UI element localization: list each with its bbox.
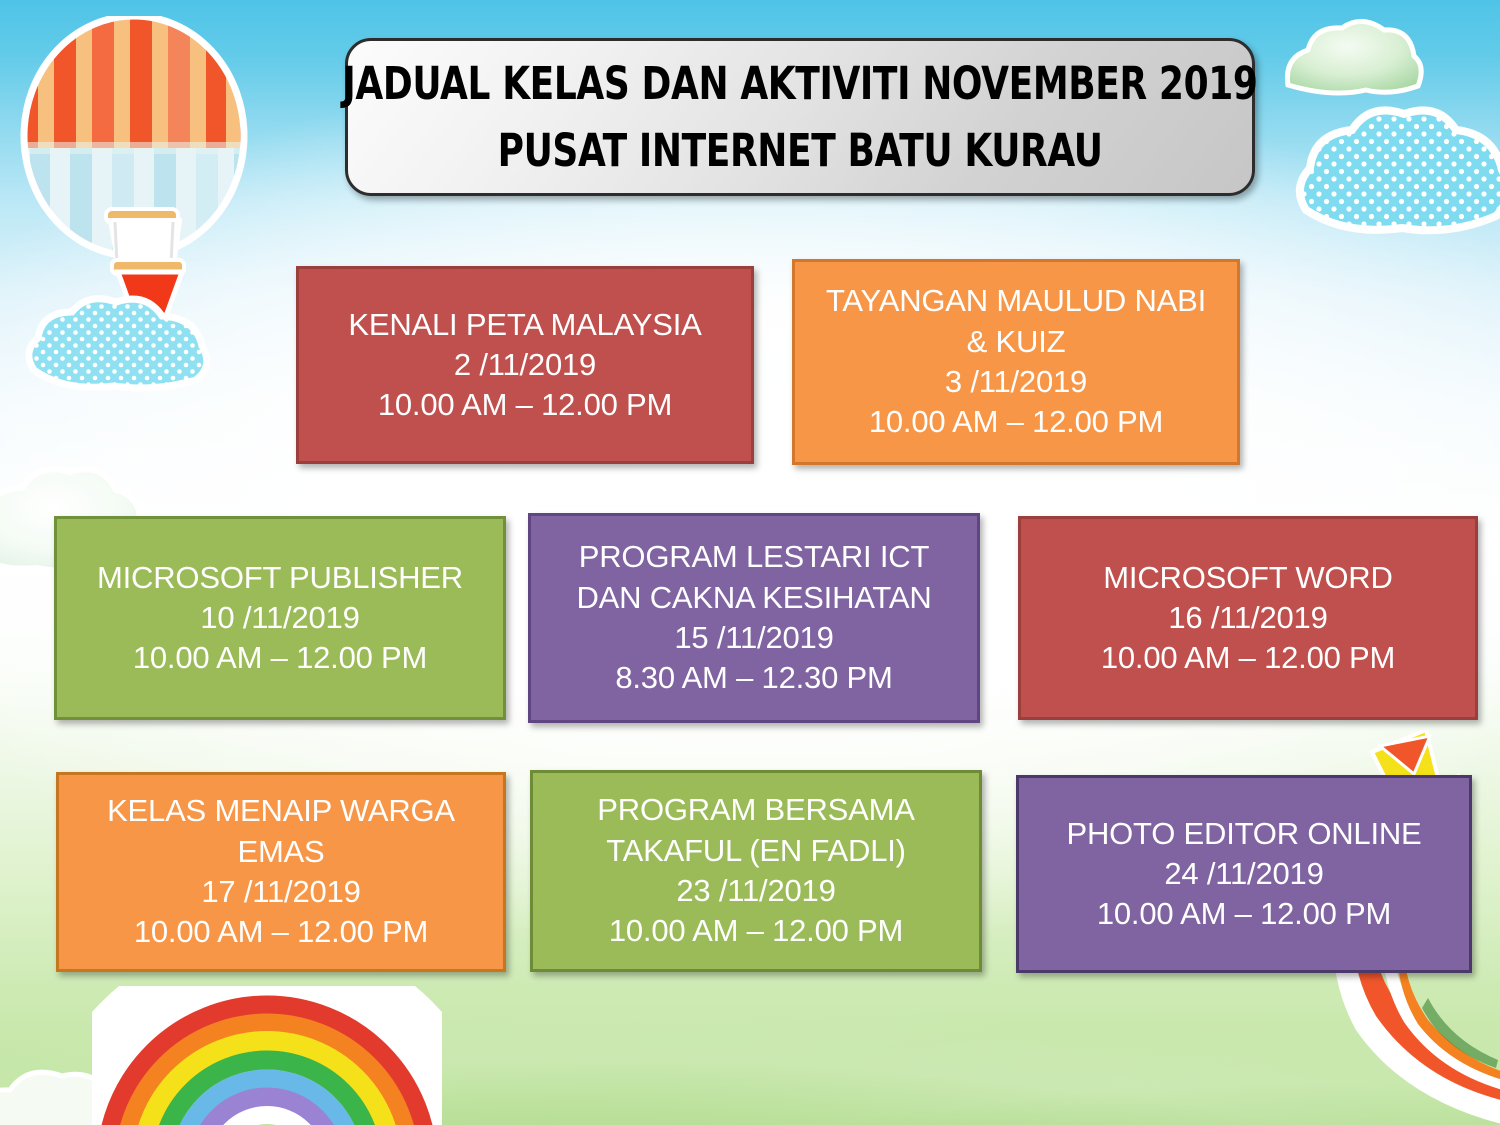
activity-card-line: 23 /11/2019 <box>676 871 835 911</box>
activity-card-line: 16 /11/2019 <box>1168 598 1327 638</box>
activity-card-line: 3 /11/2019 <box>945 362 1087 402</box>
poster-title-plaque: JADUAL KELAS DAN AKTIVITI NOVEMBER 2019 … <box>345 38 1255 196</box>
activity-card-line: 8.30 AM – 12.30 PM <box>615 658 892 698</box>
activity-card-program-bersama-takaful[interactable]: PROGRAM BERSAMATAKAFUL (EN FADLI)23 /11/… <box>530 770 982 972</box>
activity-card-line: KENALI PETA MALAYSIA <box>348 305 701 345</box>
page-title-line-1: JADUAL KELAS DAN AKTIVITI NOVEMBER 2019 <box>342 61 1257 106</box>
activity-card-line: PROGRAM LESTARI ICT <box>579 537 929 577</box>
activity-card-program-lestari-ict[interactable]: PROGRAM LESTARI ICTDAN CAKNA KESIHATAN15… <box>528 513 980 723</box>
activity-card-tayangan-maulud-nabi-kuiz[interactable]: TAYANGAN MAULUD NABI& KUIZ3 /11/201910.0… <box>792 259 1240 465</box>
activity-card-line: 10 /11/2019 <box>200 598 359 638</box>
activity-card-line: 10.00 AM – 12.00 PM <box>1101 638 1395 678</box>
activity-card-line: 10.00 AM – 12.00 PM <box>133 638 427 678</box>
activity-card-kelas-menaip-warga-emas[interactable]: KELAS MENAIP WARGAEMAS17 /11/201910.00 A… <box>56 772 506 972</box>
page-title-line-2: PUSAT INTERNET BATU KURAU <box>498 128 1103 173</box>
activity-card-line: TAKAFUL (EN FADLI) <box>606 831 906 871</box>
activity-card-line: KELAS MENAIP WARGA <box>107 791 455 831</box>
activity-card-line: 17 /11/2019 <box>201 872 360 912</box>
activity-card-line: MICROSOFT PUBLISHER <box>97 558 463 598</box>
activity-card-line: EMAS <box>237 832 324 872</box>
activity-card-line: 2 /11/2019 <box>454 345 596 385</box>
poster-canvas: JADUAL KELAS DAN AKTIVITI NOVEMBER 2019 … <box>0 0 1500 1125</box>
activity-card-line: 24 /11/2019 <box>1164 854 1323 894</box>
activity-card-line: 10.00 AM – 12.00 PM <box>134 912 428 952</box>
activity-card-line: 10.00 AM – 12.00 PM <box>1097 894 1391 934</box>
activity-card-line: PHOTO EDITOR ONLINE <box>1066 814 1421 854</box>
activity-card-line: TAYANGAN MAULUD NABI <box>826 281 1206 321</box>
activity-card-line: PROGRAM BERSAMA <box>597 790 914 830</box>
activity-card-line: DAN CAKNA KESIHATAN <box>576 578 931 618</box>
activity-card-photo-editor-online[interactable]: PHOTO EDITOR ONLINE24 /11/201910.00 AM –… <box>1016 775 1472 973</box>
activity-card-line: 10.00 AM – 12.00 PM <box>378 385 672 425</box>
activity-card-microsoft-publisher[interactable]: MICROSOFT PUBLISHER10 /11/201910.00 AM –… <box>54 516 506 720</box>
activity-card-microsoft-word[interactable]: MICROSOFT WORD16 /11/201910.00 AM – 12.0… <box>1018 516 1478 720</box>
activity-card-line: MICROSOFT WORD <box>1103 558 1392 598</box>
activity-card-line: 15 /11/2019 <box>674 618 833 658</box>
activity-card-kenali-peta-malaysia[interactable]: KENALI PETA MALAYSIA2 /11/201910.00 AM –… <box>296 266 754 464</box>
activity-card-line: 10.00 AM – 12.00 PM <box>869 402 1163 442</box>
activity-card-line: & KUIZ <box>967 322 1066 362</box>
activity-card-line: 10.00 AM – 12.00 PM <box>609 911 903 951</box>
